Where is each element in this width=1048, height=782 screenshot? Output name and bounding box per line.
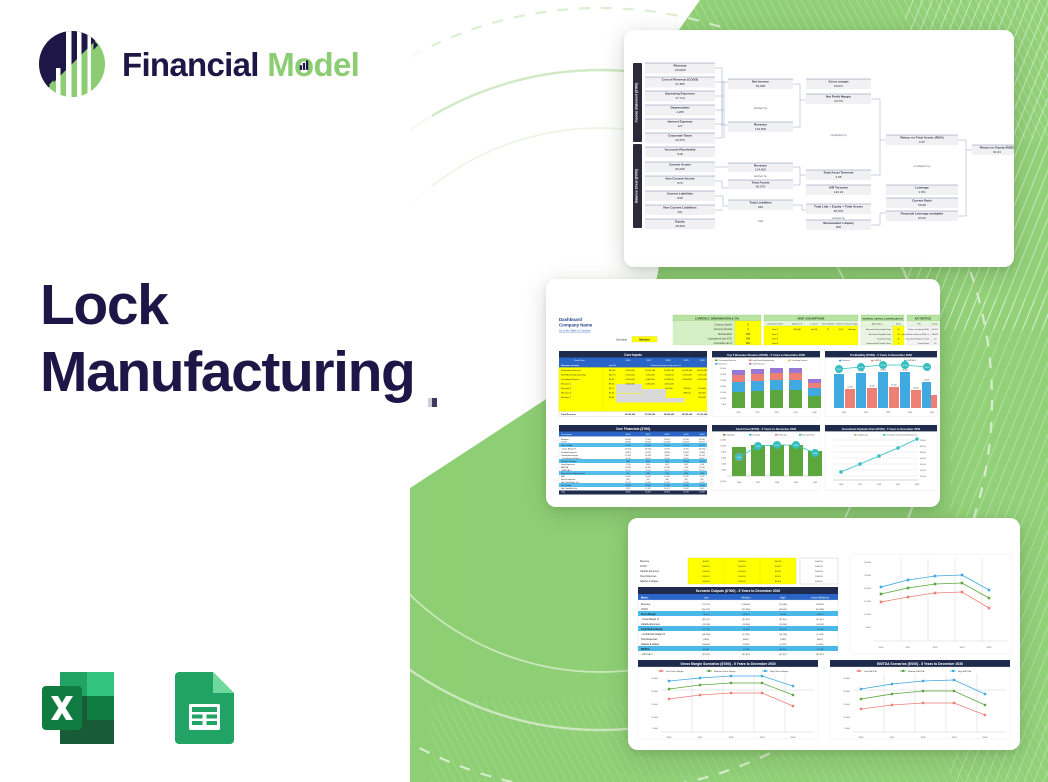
svg-text:28,550,000: 28,550,000 bbox=[682, 414, 693, 416]
svg-text:20%: 20% bbox=[746, 343, 751, 345]
svg-text:(51.3)%: (51.3)% bbox=[779, 619, 787, 621]
svg-text:500,000: 500,000 bbox=[793, 329, 801, 331]
file-format-icons bbox=[34, 664, 246, 752]
svg-text:Non Current Liabilities: Non Current Liabilities bbox=[663, 206, 696, 210]
microsoft-excel-icon[interactable] bbox=[34, 664, 122, 752]
svg-text:(8,740): (8,740) bbox=[645, 442, 651, 444]
svg-text:2029: 2029 bbox=[952, 737, 958, 739]
svg-text:8,321: 8,321 bbox=[626, 488, 631, 490]
svg-text:Revenue: Revenue bbox=[754, 123, 767, 127]
svg-text:(1,298): (1,298) bbox=[817, 634, 824, 636]
svg-text:95.0%: 95.0% bbox=[775, 566, 781, 568]
svg-text:(34): (34) bbox=[646, 479, 650, 481]
svg-text:110.0%: 110.0% bbox=[774, 561, 781, 563]
svg-text:Professional Services: Professional Services bbox=[561, 369, 581, 372]
svg-text:4,060,000: 4,060,000 bbox=[645, 384, 655, 386]
svg-text:Dashboard: Dashboard bbox=[559, 317, 582, 322]
svg-text:Total Liab + Equity = Total As: Total Liab + Equity = Total Assets bbox=[814, 205, 863, 209]
svg-text:530,100: 530,100 bbox=[683, 388, 691, 390]
svg-text:multiplied by: multiplied by bbox=[830, 133, 847, 137]
svg-text:Cash Flow ($'000) - 5 Years to: Cash Flow ($'000) - 5 Years to December … bbox=[736, 427, 797, 431]
svg-text:21,000: 21,000 bbox=[924, 380, 930, 382]
svg-text:Investing: Investing bbox=[753, 433, 760, 436]
svg-text:2029: 2029 bbox=[794, 482, 798, 484]
svg-text:7,208,100: 7,208,100 bbox=[664, 375, 674, 377]
svg-text:(2,582): (2,582) bbox=[645, 485, 651, 487]
svg-text:Accounts Receivable Days: Accounts Receivable Days bbox=[866, 328, 891, 331]
svg-text:5,000: 5,000 bbox=[721, 404, 726, 406]
svg-text:Revenue Forecast by years, $: Revenue Forecast by years, $ bbox=[651, 364, 681, 367]
svg-text:71,708: 71,708 bbox=[817, 649, 824, 651]
svg-text:Contribution Margin: Contribution Margin bbox=[641, 628, 664, 631]
svg-text:$4.77: $4.77 bbox=[609, 388, 615, 390]
svg-text:10,352: 10,352 bbox=[625, 476, 631, 478]
svg-text:64.0%: 64.0% bbox=[834, 84, 843, 88]
bar-chart-in-o-icon bbox=[296, 57, 311, 72]
svg-text:- EBITDA %: - EBITDA % bbox=[561, 469, 572, 472]
svg-text:161,480: 161,480 bbox=[779, 604, 788, 606]
svg-text:32.7%: 32.7% bbox=[664, 470, 670, 472]
svg-text:25,000: 25,000 bbox=[864, 575, 871, 577]
svg-text:144.0%: 144.0% bbox=[932, 334, 939, 336]
svg-text:COGS: COGS bbox=[561, 442, 567, 444]
svg-text:21,350: 21,350 bbox=[625, 455, 631, 457]
svg-text:(2,035): (2,035) bbox=[683, 485, 689, 487]
financial-model-circle-logo-icon bbox=[36, 28, 108, 100]
svg-text:2026: 2026 bbox=[736, 412, 740, 414]
svg-text:(13,063): (13,063) bbox=[742, 624, 750, 626]
svg-text:90.0%: 90.0% bbox=[703, 561, 709, 563]
svg-text:$1.30: $1.30 bbox=[609, 393, 615, 395]
svg-text:Salaries & Wages: Salaries & Wages bbox=[640, 580, 659, 583]
svg-text:15,232: 15,232 bbox=[645, 482, 651, 484]
svg-text:Company Name: Company Name bbox=[559, 323, 593, 328]
svg-text:105.0%: 105.0% bbox=[702, 581, 709, 583]
svg-text:KPI: KPI bbox=[917, 324, 921, 326]
svg-text:(123): (123) bbox=[700, 464, 705, 466]
svg-text:2030: 2030 bbox=[812, 412, 816, 414]
svg-text:20,000: 20,000 bbox=[920, 470, 926, 472]
svg-text:KEY METRICS: KEY METRICS bbox=[915, 317, 932, 320]
svg-text:Scenario Outputs ($'000) - 5 Y: Scenario Outputs ($'000) - 5 Years to De… bbox=[696, 589, 781, 593]
svg-text:(891): (891) bbox=[646, 461, 651, 463]
svg-text:2030: 2030 bbox=[700, 360, 706, 362]
google-sheets-icon[interactable] bbox=[158, 664, 246, 752]
svg-text:(8037): (8037) bbox=[743, 639, 750, 641]
svg-text:7,048: 7,048 bbox=[684, 455, 689, 457]
svg-text:Interest expense: Interest expense bbox=[561, 478, 575, 481]
svg-text:(178): (178) bbox=[665, 473, 670, 475]
svg-text:10,000: 10,000 bbox=[720, 446, 726, 448]
svg-text:Payback year: Payback year bbox=[858, 434, 869, 436]
svg-text:Corporate tax rate (CIT): Corporate tax rate (CIT) bbox=[708, 337, 733, 340]
svg-text:(8.0%): (8.0%) bbox=[645, 458, 651, 460]
svg-text:Variable Expenses: Variable Expenses bbox=[641, 623, 661, 626]
svg-text:27,500,000: 27,500,000 bbox=[645, 414, 656, 416]
svg-text:31,010,000: 31,010,000 bbox=[697, 414, 708, 416]
svg-text:Variable Expenses: Variable Expenses bbox=[561, 452, 577, 454]
svg-text:26,005,000: 26,005,000 bbox=[625, 414, 636, 416]
svg-text:100.0%: 100.0% bbox=[815, 581, 822, 583]
svg-text:2029: 2029 bbox=[896, 484, 900, 486]
svg-text:Currency Symbol: Currency Symbol bbox=[714, 324, 732, 327]
svg-text:DEBT ASSUMPTIONS: DEBT ASSUMPTIONS bbox=[798, 316, 825, 320]
svg-text:Grace Days: Grace Days bbox=[847, 323, 858, 326]
svg-text:10,350: 10,350 bbox=[775, 445, 780, 447]
svg-text:-: - bbox=[680, 102, 681, 105]
svg-text:14,035: 14,035 bbox=[683, 492, 689, 494]
svg-text:6,500,000: 6,500,000 bbox=[625, 379, 635, 381]
svg-text:Professional Services: Professional Services bbox=[719, 360, 736, 362]
svg-text:(10,138): (10,138) bbox=[779, 634, 787, 636]
svg-text:Accounts Receivable: Accounts Receivable bbox=[664, 148, 695, 152]
svg-text:- Contribution Margin %: - Contribution Margin % bbox=[561, 457, 582, 460]
svg-text:2028: 2028 bbox=[877, 484, 881, 486]
svg-text:Consulting Services: Consulting Services bbox=[561, 378, 579, 381]
svg-text:Term, Months: Term, Months bbox=[822, 323, 835, 326]
svg-text:divided by: divided by bbox=[832, 216, 846, 220]
svg-text:(185): (185) bbox=[700, 473, 705, 475]
svg-text:2029: 2029 bbox=[793, 412, 797, 414]
svg-text:Net Profit After Tax: Net Profit After Tax bbox=[561, 487, 577, 490]
svg-text:2027: 2027 bbox=[646, 434, 652, 436]
svg-text:- Gross Margin %: - Gross Margin % bbox=[641, 618, 659, 621]
svg-text:- Gross Margin %: - Gross Margin % bbox=[561, 449, 576, 451]
svg-text:Amount, $: Amount, $ bbox=[792, 323, 802, 326]
svg-text:20,576: 20,576 bbox=[675, 138, 685, 142]
svg-text:Depreciation & Amortisation: Depreciation & Amortisation bbox=[561, 472, 585, 475]
svg-text:50,576: 50,576 bbox=[756, 185, 766, 189]
svg-text:6,090,035: 6,090,035 bbox=[682, 379, 692, 381]
svg-text:divided by: divided by bbox=[754, 106, 768, 110]
svg-text:EBITDA: EBITDA bbox=[641, 648, 650, 651]
svg-text:-: - bbox=[680, 88, 681, 91]
svg-text:(48,198): (48,198) bbox=[702, 634, 710, 636]
svg-text:13,000: 13,000 bbox=[913, 388, 919, 390]
svg-text:$64.30: $64.30 bbox=[609, 370, 616, 372]
svg-text:(87,880): (87,880) bbox=[742, 609, 750, 611]
svg-text:20,000: 20,000 bbox=[843, 691, 850, 693]
svg-text:2027: 2027 bbox=[906, 647, 912, 649]
svg-text:20,000: 20,000 bbox=[651, 691, 658, 693]
svg-text:6,450,000: 6,450,000 bbox=[697, 379, 707, 381]
preview-card-financial-ratio-tree[interactable]: Income Statement ($'000) Balance Sheet (… bbox=[624, 30, 1014, 267]
svg-text:Revenue 7: Revenue 7 bbox=[561, 397, 572, 399]
svg-text:Small Batch Manufacturing: Small Batch Manufacturing bbox=[561, 374, 587, 377]
svg-text:Revenue 6: Revenue 6 bbox=[561, 393, 572, 395]
svg-text:7,370,000: 7,370,000 bbox=[697, 375, 707, 377]
svg-text:32.7%: 32.7% bbox=[699, 470, 705, 472]
svg-text:Other Revenue: Other Revenue bbox=[753, 363, 765, 366]
svg-text:13,181: 13,181 bbox=[683, 482, 689, 484]
svg-text:15,000: 15,000 bbox=[720, 392, 726, 394]
svg-text:67,778: 67,778 bbox=[703, 629, 710, 631]
svg-text:15,000: 15,000 bbox=[864, 601, 871, 603]
svg-text:10,347: 10,347 bbox=[683, 488, 689, 490]
svg-text:Non Current Assets: Non Current Assets bbox=[666, 177, 695, 181]
svg-text:(7805): (7805) bbox=[703, 639, 710, 641]
svg-text:6.0%: 6.0% bbox=[839, 329, 844, 331]
svg-text:105.0%: 105.0% bbox=[702, 576, 709, 578]
svg-text:CURRENCY, DENOMINATION & TAX: CURRENCY, DENOMINATION & TAX bbox=[695, 316, 740, 320]
svg-text:Gross Margin: Gross Margin bbox=[561, 445, 573, 447]
svg-text:Financial Leverage multiplier: Financial Leverage multiplier bbox=[901, 212, 944, 216]
svg-text:Revenue: Revenue bbox=[640, 561, 650, 563]
svg-text:Low EBITDA: Low EBITDA bbox=[864, 670, 877, 673]
svg-text:(2,463): (2,463) bbox=[683, 452, 689, 454]
svg-text:2026: 2026 bbox=[667, 737, 673, 739]
svg-text:Active (Medium): Active (Medium) bbox=[811, 596, 829, 599]
svg-text:$12.70: $12.70 bbox=[609, 375, 616, 377]
svg-text:16,010,000: 16,010,000 bbox=[697, 370, 708, 372]
svg-text:(181): (181) bbox=[684, 473, 689, 475]
svg-text:High Gross Margin: High Gross Margin bbox=[770, 670, 789, 673]
svg-text:2026: 2026 bbox=[737, 482, 741, 484]
svg-text:Revenue 4: Revenue 4 bbox=[719, 364, 728, 366]
svg-text:2029: 2029 bbox=[684, 360, 690, 362]
svg-text:10,000: 10,000 bbox=[920, 476, 926, 478]
svg-text:Loan/Grant Name: Loan/Grant Name bbox=[767, 323, 784, 326]
svg-text:Depreciation: Depreciation bbox=[671, 106, 690, 110]
svg-text:95.0%: 95.0% bbox=[775, 581, 781, 583]
svg-text:0.97: 0.97 bbox=[919, 140, 925, 144]
svg-text:25,160: 25,160 bbox=[625, 445, 631, 447]
svg-text:Total Asset Turnover: Total Asset Turnover bbox=[823, 171, 854, 175]
svg-text:2027: 2027 bbox=[864, 412, 868, 414]
svg-text:30,000: 30,000 bbox=[864, 562, 871, 564]
svg-text:Variable Expenses: Variable Expenses bbox=[640, 570, 660, 573]
svg-text:2029: 2029 bbox=[908, 412, 912, 414]
svg-text:4,500,000: 4,500,000 bbox=[625, 384, 635, 386]
svg-text:10,500: 10,500 bbox=[794, 445, 799, 447]
svg-text:6,080,000: 6,080,000 bbox=[645, 379, 655, 381]
svg-text:14,000: 14,000 bbox=[891, 385, 897, 387]
svg-text:Medium: Medium bbox=[742, 596, 751, 599]
svg-text:Current Assets: Current Assets bbox=[669, 163, 691, 167]
svg-text:(9,640): (9,640) bbox=[625, 442, 631, 444]
svg-text:15,000: 15,000 bbox=[843, 704, 850, 706]
svg-text:Internal Rate of Return (IRR),: Internal Rate of Return (IRR), % bbox=[901, 333, 929, 336]
svg-text:Cumulative Cash Generated (Sou: Cumulative Cash Generated (Source) bbox=[887, 433, 917, 436]
svg-text:100.0%: 100.0% bbox=[815, 566, 822, 568]
svg-text:2026: 2026 bbox=[842, 412, 846, 414]
svg-text:13,500: 13,500 bbox=[869, 386, 875, 388]
svg-text:5,000: 5,000 bbox=[845, 728, 851, 730]
svg-text:1.5: 1.5 bbox=[934, 338, 937, 340]
svg-text:2030: 2030 bbox=[791, 737, 797, 739]
svg-text:- EBITDA %: - EBITDA % bbox=[641, 653, 653, 656]
svg-text:Value: Value bbox=[896, 324, 902, 326]
svg-text:50,576: 50,576 bbox=[834, 209, 844, 213]
svg-text:Low Gross Margin: Low Gross Margin bbox=[666, 670, 685, 673]
svg-text:(2,935): (2,935) bbox=[699, 485, 705, 487]
svg-text:17,714: 17,714 bbox=[675, 96, 685, 100]
dashboard-screenshot-graphic: Dashboard Company Name Go to the Table o… bbox=[546, 279, 940, 507]
svg-text:Operating: Operating bbox=[727, 433, 735, 436]
svg-text:2,000: 2,000 bbox=[721, 470, 726, 472]
svg-text:Operating Expenses: Operating Expenses bbox=[665, 92, 695, 96]
svg-text:14,760: 14,760 bbox=[664, 445, 670, 447]
svg-text:(87,880): (87,880) bbox=[816, 609, 824, 611]
svg-text:Gross Margin: Gross Margin bbox=[641, 614, 656, 616]
svg-text:2029: 2029 bbox=[684, 434, 690, 436]
svg-text:Income Statement ($'000): Income Statement ($'000) bbox=[635, 83, 639, 123]
svg-text:Description: Description bbox=[561, 433, 573, 436]
svg-text:Interest, %: Interest, % bbox=[836, 323, 846, 326]
svg-text:800: 800 bbox=[836, 225, 841, 229]
svg-text:Discounted Payback (Year): Discounted Payback (Year) bbox=[906, 337, 930, 340]
svg-text:5,000: 5,000 bbox=[653, 728, 659, 730]
preview-card-dashboard[interactable]: Dashboard Company Name Go to the Table o… bbox=[546, 279, 940, 507]
svg-text:Fixed Expenses: Fixed Expenses bbox=[561, 464, 575, 466]
svg-text:(84): (84) bbox=[700, 479, 704, 481]
svg-text:16,092: 16,092 bbox=[645, 476, 651, 478]
svg-text:(5.0%): (5.0%) bbox=[625, 458, 631, 460]
svg-text:EBITDA: EBITDA bbox=[561, 466, 569, 469]
svg-text:948: 948 bbox=[677, 152, 682, 156]
svg-text:Annuity: Annuity bbox=[849, 328, 857, 331]
svg-text:144.24: 144.24 bbox=[834, 190, 844, 194]
svg-text:2030: 2030 bbox=[915, 484, 919, 486]
svg-text:10,255: 10,255 bbox=[699, 467, 705, 469]
svg-text:8,315: 8,315 bbox=[700, 488, 705, 490]
svg-text:2026: 2026 bbox=[839, 484, 843, 486]
svg-text:(2,978): (2,978) bbox=[664, 485, 670, 487]
svg-text:Assumption: Assumption bbox=[872, 323, 884, 326]
brand-name-part2: Model bbox=[267, 46, 359, 83]
svg-text:2027: 2027 bbox=[890, 737, 896, 739]
svg-text:40.0%: 40.0% bbox=[859, 367, 864, 369]
svg-text:10,035: 10,035 bbox=[699, 492, 705, 494]
svg-text:Salaries & Wages: Salaries & Wages bbox=[561, 461, 576, 463]
svg-text:12,836,100: 12,836,100 bbox=[664, 370, 675, 372]
svg-text:47,880: 47,880 bbox=[675, 82, 685, 86]
svg-text:28,400: 28,400 bbox=[880, 370, 886, 372]
svg-text:Total Liabilities: Total Liabilities bbox=[749, 201, 772, 205]
svg-text:(163): (163) bbox=[646, 464, 651, 466]
svg-text:(32.0)%: (32.0)% bbox=[742, 654, 750, 656]
svg-text:9,609: 9,609 bbox=[665, 455, 670, 457]
svg-text:100.0%: 100.0% bbox=[738, 566, 745, 568]
svg-text:Balance Sheet ($'000): Balance Sheet ($'000) bbox=[635, 169, 639, 203]
svg-text:105.0%: 105.0% bbox=[702, 566, 709, 568]
svg-text:35.2%: 35.2% bbox=[625, 470, 631, 472]
svg-text:131,130: 131,130 bbox=[702, 604, 711, 606]
svg-text:100.0%: 100.0% bbox=[738, 576, 745, 578]
svg-text:High EBITDA: High EBITDA bbox=[958, 670, 972, 673]
svg-text:(2,000): (2,000) bbox=[720, 481, 726, 483]
svg-text:COGS: COGS bbox=[640, 566, 647, 568]
page-title: Lock Manufacturing bbox=[40, 272, 444, 405]
svg-text:divided by: divided by bbox=[754, 174, 768, 178]
svg-text:20,000: 20,000 bbox=[864, 588, 871, 590]
svg-text:Total: Total bbox=[561, 491, 566, 494]
svg-text:(10,645): (10,645) bbox=[702, 644, 710, 646]
svg-text:4,505,200: 4,505,200 bbox=[664, 384, 674, 386]
svg-text:502,300: 502,300 bbox=[665, 388, 673, 390]
svg-text:570: 570 bbox=[677, 181, 682, 185]
financial-ratio-tree-diagram: Income Statement ($'000) Balance Sheet (… bbox=[624, 30, 1014, 267]
svg-text:68,260: 68,260 bbox=[645, 445, 651, 447]
svg-text:15,000: 15,000 bbox=[651, 704, 658, 706]
svg-text:8,650,000: 8,650,000 bbox=[625, 370, 635, 372]
svg-text:(18): (18) bbox=[684, 479, 688, 481]
svg-text:34.7%: 34.7% bbox=[834, 99, 843, 103]
svg-text:Net Profit Margin: Net Profit Margin bbox=[826, 95, 851, 99]
svg-text:24,322: 24,322 bbox=[699, 445, 705, 447]
svg-text:2030: 2030 bbox=[983, 737, 989, 739]
svg-text:Current Ratio: Current Ratio bbox=[912, 199, 932, 203]
svg-text:10,000: 10,000 bbox=[864, 614, 871, 616]
svg-text:37.1%: 37.1% bbox=[645, 470, 651, 472]
left-content-column: Financial Model Lock Manufacturing bbox=[0, 0, 470, 782]
svg-text:6,000: 6,000 bbox=[721, 458, 726, 460]
svg-text:30,000: 30,000 bbox=[920, 464, 926, 466]
svg-text:949: 949 bbox=[758, 205, 763, 209]
svg-text:(13,062): (13,062) bbox=[816, 624, 824, 626]
svg-text:288,100: 288,100 bbox=[683, 393, 691, 395]
svg-text:COGS: COGS bbox=[641, 609, 648, 611]
svg-text:(2,840): (2,840) bbox=[664, 452, 670, 454]
svg-text:2030: 2030 bbox=[930, 412, 934, 414]
svg-text:(9,852): (9,852) bbox=[625, 485, 631, 487]
brand-wordmark: Financial Model bbox=[122, 48, 359, 81]
svg-text:28,352: 28,352 bbox=[664, 492, 670, 494]
preview-card-scenario-analysis[interactable]: RevenueCOGS Variable ExpensesFixed Expen… bbox=[628, 518, 1020, 750]
svg-text:Revenue: Revenue bbox=[843, 360, 850, 362]
svg-text:Fixed Expenses: Fixed Expenses bbox=[640, 576, 657, 578]
svg-text:Consulting Services: Consulting Services bbox=[792, 359, 808, 362]
svg-text:14,000,500: 14,000,500 bbox=[682, 370, 693, 372]
svg-text:20,000: 20,000 bbox=[720, 386, 726, 388]
svg-text:Financing: Financing bbox=[779, 434, 787, 436]
svg-text:10,255: 10,255 bbox=[699, 482, 705, 484]
svg-text:Corporate Taxes: Corporate Taxes bbox=[668, 134, 692, 138]
brand-name-part1: Financial bbox=[122, 46, 259, 83]
svg-text:2028: 2028 bbox=[666, 360, 672, 362]
svg-text:'000: '000 bbox=[746, 338, 751, 340]
svg-text:13,267: 13,267 bbox=[664, 482, 670, 484]
svg-text:14,238: 14,238 bbox=[645, 455, 651, 457]
svg-text:134,800: 134,800 bbox=[674, 68, 685, 72]
svg-text:(2,168): (2,168) bbox=[780, 644, 787, 646]
svg-text:8,300: 8,300 bbox=[813, 453, 817, 455]
svg-text:(48): (48) bbox=[665, 461, 669, 463]
svg-text:Depreciation Period, Years: Depreciation Period, Years bbox=[866, 342, 891, 345]
brand-logo: Financial Model bbox=[36, 28, 359, 100]
svg-text:Current Ratio: Current Ratio bbox=[917, 342, 929, 345]
svg-text:EBITDA %: EBITDA % bbox=[908, 359, 917, 362]
svg-text:Metric: Metric bbox=[641, 596, 649, 599]
svg-text:13,165: 13,165 bbox=[683, 476, 689, 478]
svg-text:60,000: 60,000 bbox=[920, 446, 926, 448]
svg-text:(83,002): (83,002) bbox=[779, 609, 787, 611]
svg-text:220,035: 220,035 bbox=[698, 397, 706, 399]
svg-text:9,300: 9,300 bbox=[700, 476, 705, 478]
svg-text:16,305: 16,305 bbox=[645, 492, 651, 494]
svg-text:100.0%: 100.0% bbox=[815, 576, 822, 578]
svg-text:5,000: 5,000 bbox=[866, 627, 872, 629]
svg-text:Revenue streams: Revenue streams bbox=[561, 364, 580, 367]
svg-text:Equity: Equity bbox=[675, 220, 685, 224]
svg-text:Core Inputs: Core Inputs bbox=[624, 353, 642, 357]
svg-text:Tax Taxable: Tax Taxable bbox=[561, 485, 571, 487]
svg-text:146,800: 146,800 bbox=[816, 604, 825, 606]
svg-text:(51.8)%: (51.8)% bbox=[816, 619, 824, 621]
svg-text:95.0%: 95.0% bbox=[775, 571, 781, 573]
svg-text:23.7%: 23.7% bbox=[683, 470, 689, 472]
svg-text:105.0%: 105.0% bbox=[702, 571, 709, 573]
